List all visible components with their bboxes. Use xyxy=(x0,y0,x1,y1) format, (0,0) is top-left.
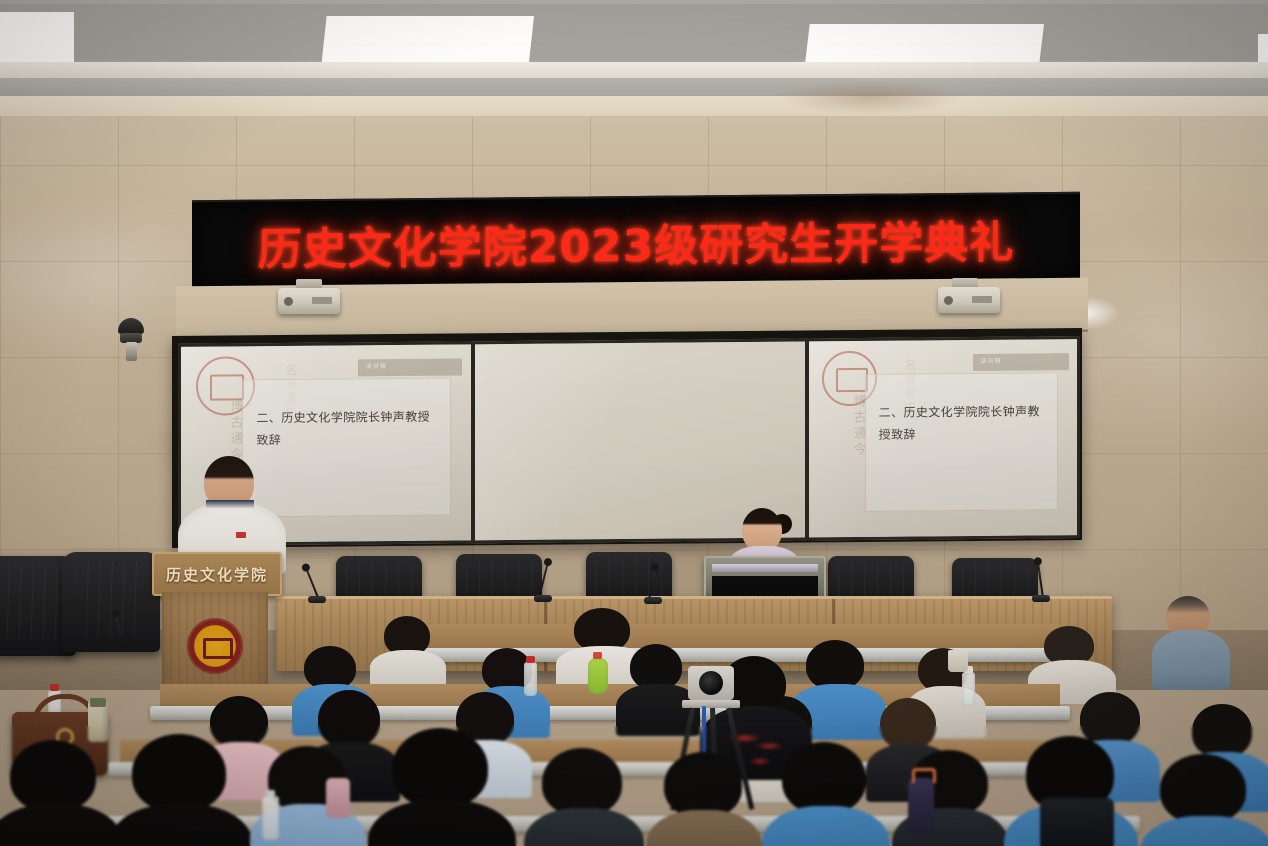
torso xyxy=(762,806,890,846)
lecture-hall-photo: 历史文化学院2023级研究生开学典礼 名垂青史 博古通今 演讲稿 二、历史文化学… xyxy=(0,0,1268,846)
video-camera xyxy=(688,666,734,700)
head xyxy=(132,734,226,812)
projector-vent xyxy=(312,297,332,304)
green-bottle xyxy=(588,658,608,694)
shirt-logo xyxy=(236,532,246,538)
audience-person xyxy=(0,740,118,846)
desk-surface xyxy=(420,624,1060,650)
thermos-handle xyxy=(912,768,936,783)
camera-mount-arm xyxy=(126,342,137,361)
audience-person xyxy=(524,748,640,846)
projector-lens-icon xyxy=(284,297,293,306)
projector-lens-icon xyxy=(944,296,953,305)
projector-vent xyxy=(972,296,992,303)
camera-lens-icon xyxy=(699,671,723,695)
dark-thermos xyxy=(908,778,934,834)
paper-cup xyxy=(948,650,968,672)
backpack xyxy=(1040,798,1114,846)
head xyxy=(806,640,864,690)
torso xyxy=(0,804,122,846)
head xyxy=(10,740,96,812)
head xyxy=(392,728,488,808)
security-camera-icon xyxy=(117,318,145,362)
led-banner-text: 历史文化学院2023级研究生开学典礼 xyxy=(258,206,1014,277)
ceiling-recess-inner xyxy=(0,4,1268,60)
ceiling-shadow-band xyxy=(0,78,1268,96)
head xyxy=(1192,704,1252,758)
torso xyxy=(1140,816,1268,846)
ceiling-stain xyxy=(780,80,960,114)
head xyxy=(782,742,866,814)
projection-board-assembly: 名垂青史 博古通今 演讲稿 二、历史文化学院院长钟声教授致辞 名垂青史 博古通今… xyxy=(172,328,1082,548)
audience-person xyxy=(762,742,886,846)
torso xyxy=(110,804,252,846)
audience-person xyxy=(1028,626,1112,682)
head xyxy=(664,752,742,818)
console-slot xyxy=(712,576,818,598)
audience-person xyxy=(368,728,510,846)
audience-person xyxy=(1140,754,1268,846)
podium-label: 历史文化学院 xyxy=(166,564,268,585)
audience-person xyxy=(110,734,248,846)
torso xyxy=(368,800,516,846)
ceiling-lip xyxy=(0,62,1268,78)
bottle-cap xyxy=(593,652,602,659)
torso xyxy=(646,810,762,846)
head xyxy=(542,748,622,816)
polo-collar xyxy=(206,500,254,516)
ceiling xyxy=(0,0,1268,118)
audience-area xyxy=(0,600,1268,846)
camera-dome xyxy=(118,318,144,334)
water-bottle xyxy=(962,672,975,706)
slide-right: 名垂青史 博古通今 演讲稿 二、历史文化学院院长钟声教授致辞 xyxy=(809,339,1077,537)
ceiling-projector-left xyxy=(278,288,340,314)
water-bottle xyxy=(524,662,537,696)
led-banner: 历史文化学院2023级研究生开学典礼 xyxy=(192,192,1080,291)
head xyxy=(880,698,936,750)
water-bottle xyxy=(262,796,279,840)
audience-person xyxy=(646,752,758,846)
bottle-cap xyxy=(266,790,275,797)
console-strip xyxy=(712,564,818,572)
podium-nameplate: 历史文化学院 xyxy=(152,552,282,596)
audience-person xyxy=(370,616,442,672)
ceiling-projector-right xyxy=(938,287,1000,313)
head xyxy=(1160,754,1246,824)
projection-screen-right: 名垂青史 博古通今 演讲稿 二、历史文化学院院长钟声教授致辞 xyxy=(806,336,1080,540)
bottle-cap xyxy=(526,656,535,663)
pink-thermos xyxy=(326,778,350,818)
slide-dim-overlay xyxy=(809,339,1077,537)
torso xyxy=(524,808,644,846)
